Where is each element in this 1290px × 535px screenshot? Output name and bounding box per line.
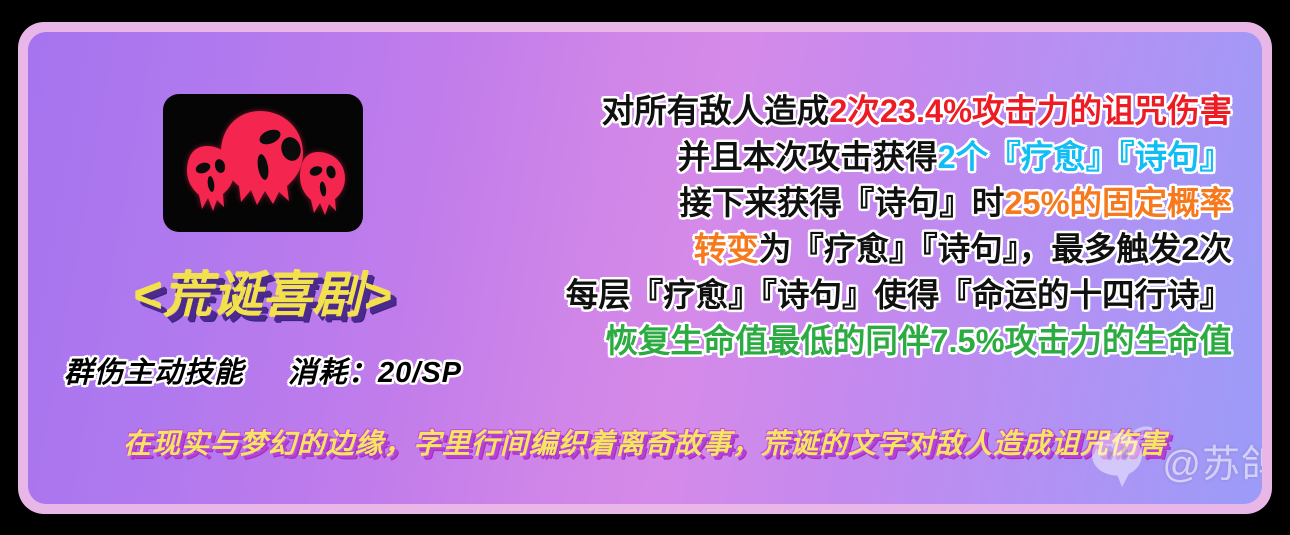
- description-line: 转变为『疗愈』『诗句』，最多触发2次: [532, 226, 1232, 272]
- skill-type-label: 群伤主动技能: [64, 349, 244, 391]
- ghost-trio-icon-art: [163, 94, 363, 232]
- description-segment: 对所有敌人造成: [602, 93, 830, 129]
- skill-card-inner: <荒诞喜剧> 群伤主动技能 消耗：20/SP 对所有敌人造成2次23.4%攻击力…: [28, 32, 1262, 504]
- description-segment: 转变: [694, 231, 759, 267]
- skill-card: <荒诞喜剧> 群伤主动技能 消耗：20/SP 对所有敌人造成2次23.4%攻击力…: [18, 22, 1272, 514]
- speech-bubble-ghost-logo: [1082, 423, 1152, 498]
- description-segment: 25%的固定概率: [1004, 185, 1232, 221]
- description-segment: 恢复生命值最低的同伴7.5%攻击力的生命值: [605, 323, 1232, 359]
- skill-flavor-text: 在现实与梦幻的边缘，字里行间编织着离奇故事，荒诞的文字对敌人造成诅咒伤害: [28, 422, 1262, 462]
- skill-title: <荒诞喜剧>: [133, 256, 392, 327]
- skill-meta-row: 群伤主动技能 消耗：20/SP: [64, 349, 462, 391]
- description-segment: 接下来获得『诗句』时: [679, 185, 1004, 221]
- description-segment: 并且本次攻击获得: [678, 139, 938, 175]
- description-line: 恢复生命值最低的同伴7.5%攻击力的生命值: [532, 318, 1232, 364]
- description-segment: 为『疗愈』『诗句』，最多触发2次: [759, 231, 1232, 267]
- skill-description: 对所有敌人造成2次23.4%攻击力的诅咒伤害并且本次攻击获得2个『疗愈』『诗句』…: [532, 88, 1232, 364]
- description-segment: 2次23.4%攻击力的诅咒伤害: [829, 93, 1232, 129]
- description-segment: 2个『疗愈』『诗句』: [938, 139, 1232, 175]
- description-line: 每层『疗愈』『诗句』使得『命运的十四行诗』: [532, 272, 1232, 318]
- description-line: 接下来获得『诗句』时25%的固定概率: [532, 180, 1232, 226]
- ghost-trio-icon: [163, 94, 363, 232]
- description-line: 并且本次攻击获得2个『疗愈』『诗句』: [532, 134, 1232, 180]
- description-line: 对所有敌人造成2次23.4%攻击力的诅咒伤害: [532, 88, 1232, 134]
- watermark-handle: @苏鸽: [1162, 433, 1262, 488]
- skill-cost-label: 消耗：20/SP: [288, 349, 462, 391]
- description-segment: 每层『疗愈』『诗句』使得『命运的十四行诗』: [566, 277, 1232, 313]
- watermark: @苏鸽: [1082, 423, 1262, 498]
- skill-identity-column: <荒诞喜剧> 群伤主动技能 消耗：20/SP: [28, 32, 498, 392]
